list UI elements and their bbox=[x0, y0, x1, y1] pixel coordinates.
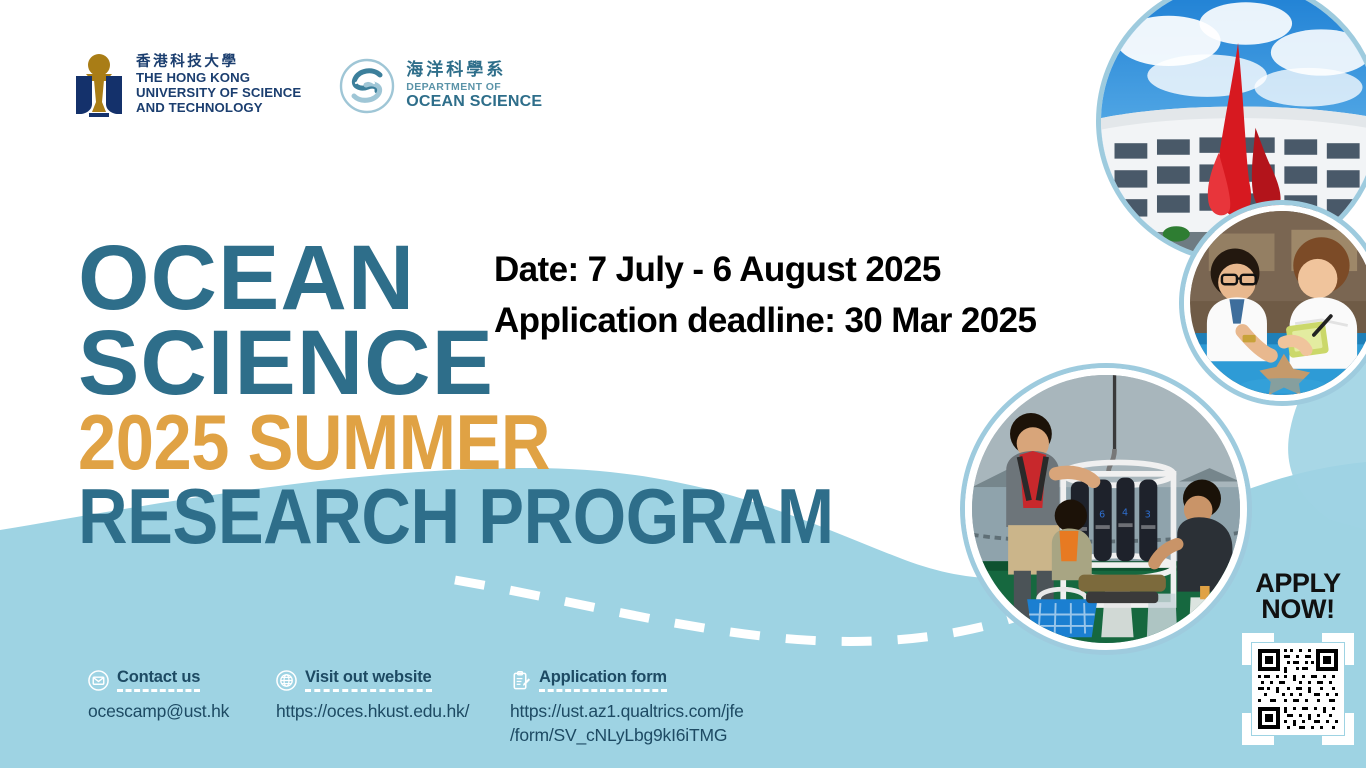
department-logo-name: OCEAN SCIENCE bbox=[406, 93, 542, 111]
footer-website-head: Visit out website bbox=[276, 668, 510, 692]
hkust-logo-line2: UNIVERSITY OF SCIENCE bbox=[136, 86, 301, 101]
footer-website-label: Visit out website bbox=[305, 668, 432, 692]
footer-form-url[interactable]: https://ust.az1.qualtrics.com/jfe /form/… bbox=[510, 700, 810, 747]
footer-form-url-line1: https://ust.az1.qualtrics.com/jfe bbox=[510, 701, 744, 721]
photo-boat: 56 43 bbox=[965, 368, 1247, 650]
hkust-logo-line1: THE HONG KONG bbox=[136, 71, 301, 86]
department-logo-text: 海洋科學系 DEPARTMENT OF OCEAN SCIENCE bbox=[406, 61, 542, 112]
footer-website-block: Visit out website https://oces.hkust.edu… bbox=[276, 668, 510, 724]
footer-contacts: Contact us ocescamp@ust.hk Visit out web… bbox=[88, 668, 810, 747]
footer-contact-head: Contact us bbox=[88, 668, 276, 692]
footer-contact-email[interactable]: ocescamp@ust.hk bbox=[88, 700, 276, 724]
application-deadline: Application deadline: 30 Mar 2025 bbox=[494, 296, 1036, 347]
hkust-logo: 香港科技大學 THE HONG KONG UNIVERSITY OF SCIEN… bbox=[72, 52, 301, 118]
department-logo-chinese: 海洋科學系 bbox=[406, 61, 542, 80]
footer-form-label: Application form bbox=[539, 668, 667, 692]
hkust-logo-text: 香港科技大學 THE HONG KONG UNIVERSITY OF SCIEN… bbox=[136, 54, 301, 115]
hkust-shield-icon bbox=[72, 52, 126, 118]
hkust-logo-chinese: 香港科技大學 bbox=[136, 54, 301, 70]
ocean-science-swirl-icon bbox=[339, 58, 395, 114]
poster-root: 香港科技大學 THE HONG KONG UNIVERSITY OF SCIEN… bbox=[0, 0, 1366, 768]
photo-lab bbox=[1184, 205, 1366, 401]
clipboard-pencil-icon bbox=[510, 670, 531, 691]
department-logo: 海洋科學系 DEPARTMENT OF OCEAN SCIENCE bbox=[339, 58, 542, 114]
footer-form-head: Application form bbox=[510, 668, 810, 692]
apply-now-line2: NOW! bbox=[1238, 596, 1358, 622]
globe-icon bbox=[276, 670, 297, 691]
dates-block: Date: 7 July - 6 August 2025 Application… bbox=[494, 245, 1036, 347]
footer-form-block: Application form https://ust.az1.qualtri… bbox=[510, 668, 810, 747]
headline-line-summer: 2025 SUMMER bbox=[78, 405, 834, 479]
department-logo-label: DEPARTMENT OF bbox=[406, 82, 542, 94]
envelope-icon bbox=[88, 670, 109, 691]
footer-form-url-line2: /form/SV_cNLyLbg9kI6iTMG bbox=[510, 725, 727, 745]
qr-code[interactable] bbox=[1242, 633, 1354, 745]
svg-text:6: 6 bbox=[1099, 510, 1105, 521]
logo-row: 香港科技大學 THE HONG KONG UNIVERSITY OF SCIEN… bbox=[72, 52, 542, 118]
svg-text:3: 3 bbox=[1145, 510, 1151, 521]
footer-website-url[interactable]: https://oces.hkust.edu.hk/ bbox=[276, 700, 510, 724]
hkust-logo-line3: AND TECHNOLOGY bbox=[136, 101, 301, 116]
headline-line-program: RESEARCH PROGRAM bbox=[78, 479, 834, 553]
svg-text:4: 4 bbox=[1122, 508, 1128, 519]
footer-contact-label: Contact us bbox=[117, 668, 200, 692]
apply-now-block[interactable]: APPLY NOW! bbox=[1238, 570, 1358, 745]
footer-contact-block: Contact us ocescamp@ust.hk bbox=[88, 668, 276, 724]
program-date: Date: 7 July - 6 August 2025 bbox=[494, 245, 1036, 296]
apply-now-line1: APPLY bbox=[1238, 570, 1358, 596]
